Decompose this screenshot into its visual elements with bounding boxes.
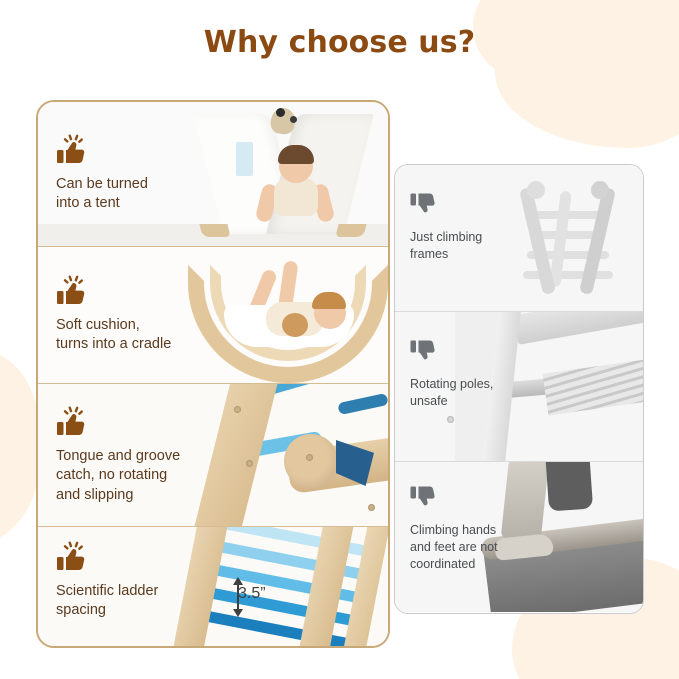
thumbs-down-icon	[410, 486, 540, 517]
pros-item-label: Scientific ladder spacing	[56, 582, 246, 621]
thumbs-down-icon	[410, 193, 540, 224]
cons-item-climbing-frames[interactable]: Just climbing frames	[395, 165, 643, 312]
pros-item-tent[interactable]: Can be turned into a tent	[38, 102, 388, 247]
thumbs-up-icon	[56, 275, 246, 310]
page-title: Why choose us?	[0, 0, 679, 60]
pros-item-ladder-spacing[interactable]: 3.5” Scientific ladder	[38, 527, 388, 646]
thumbs-up-icon	[56, 134, 246, 169]
thumbs-down-icon	[410, 340, 540, 371]
cons-panel: Just climbing frames	[394, 164, 644, 614]
pros-item-label: Soft cushion, turns into a cradle	[56, 316, 246, 355]
cons-item-label: Just climbing frames	[410, 229, 540, 263]
cons-item-label: Rotating poles, unsafe	[410, 376, 540, 410]
pros-item-label: Can be turned into a tent	[56, 175, 246, 214]
cons-item-uncoordinated-climbing[interactable]: Climbing hands and feet are not coordina…	[395, 462, 643, 612]
pros-item-cradle[interactable]: Soft cushion, turns into a cradle	[38, 247, 388, 384]
pros-panel: Can be turned into a tent	[36, 100, 390, 648]
pros-item-label: Tongue and groove catch, no rotating and…	[56, 447, 246, 505]
cons-item-label: Climbing hands and feet are not coordina…	[410, 522, 540, 573]
cons-item-rotating-poles[interactable]: Rotating poles, unsafe	[395, 312, 643, 462]
pros-item-tongue-groove[interactable]: Tongue and groove catch, no rotating and…	[38, 384, 388, 527]
comparison-section: Can be turned into a tent	[0, 74, 679, 656]
thumbs-up-icon	[56, 406, 246, 441]
thumbs-up-icon	[56, 541, 246, 576]
